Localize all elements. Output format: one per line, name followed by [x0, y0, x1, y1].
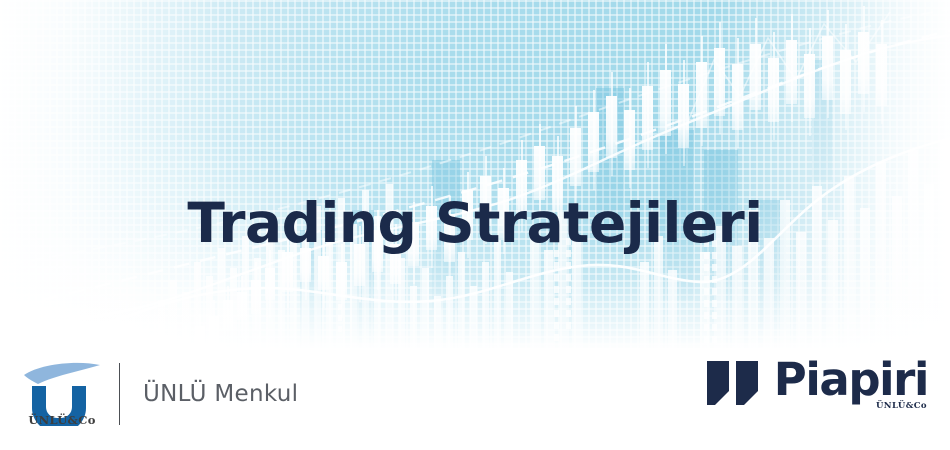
piapiri-wordmark: Piapiri — [774, 357, 928, 402]
unlu-logo-wordmark: ÜNLÜ&Co — [28, 413, 95, 426]
unlu-logo[interactable]: ÜNLÜ&Co — [14, 362, 110, 426]
piapiri-wordmark-block: Piapiri ÜNLÜ&Co — [774, 357, 928, 402]
piapiri-double-chevron-icon — [705, 361, 761, 405]
unlu-brand-lockup[interactable]: ÜNLÜ&Co ÜNLÜ Menkul — [14, 356, 298, 432]
page-title: Trading Stratejileri — [0, 193, 950, 254]
brand-divider — [119, 363, 120, 425]
trading-strategies-banner: Trading Stratejileri ÜNLÜ&Co ÜNLÜ Menkul — [0, 0, 950, 450]
piapiri-sub-wordmark: ÜNLÜ&Co — [876, 401, 927, 411]
unlu-swoosh-icon — [24, 363, 100, 384]
piapiri-brand-lockup[interactable]: Piapiri ÜNLÜ&Co — [705, 357, 928, 427]
footer-bar: ÜNLÜ&Co ÜNLÜ Menkul Piapiri ÜNLÜ&Co — [0, 348, 950, 450]
unlu-menkul-label: ÜNLÜ Menkul — [143, 381, 298, 407]
piapiri-mark — [705, 361, 761, 405]
unlu-u-logo-icon: ÜNLÜ&Co — [14, 362, 110, 426]
